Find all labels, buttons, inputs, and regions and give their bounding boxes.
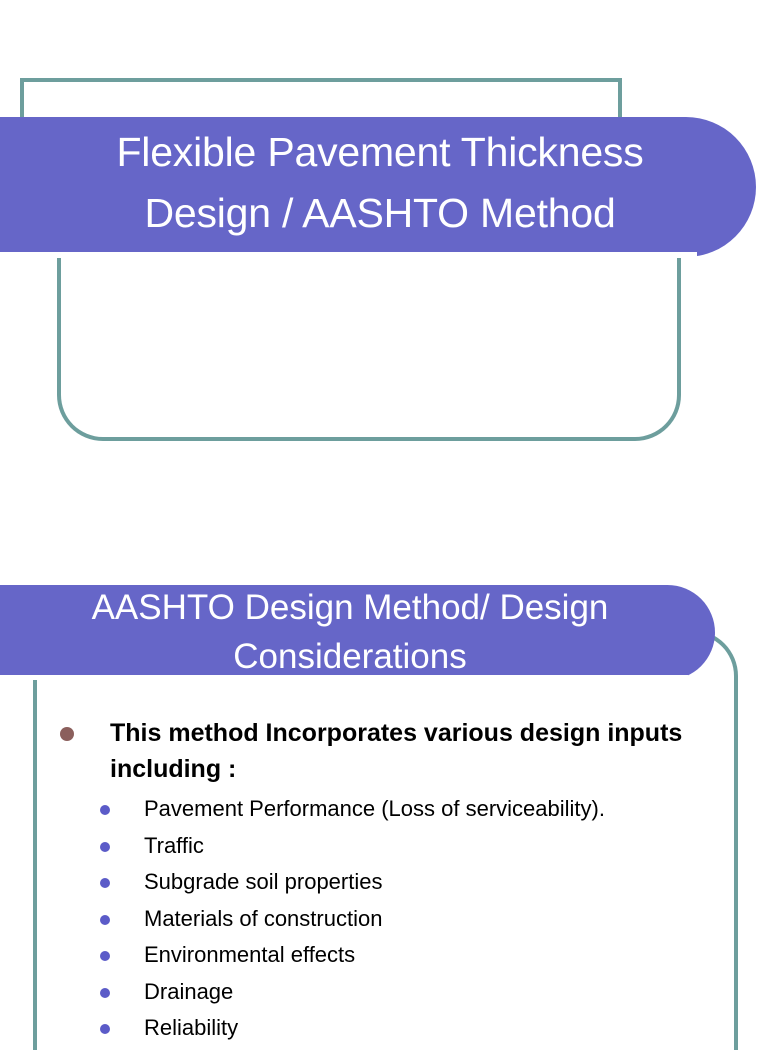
list-item: Subgrade soil properties <box>52 864 732 901</box>
bullet-dot-icon <box>100 988 110 998</box>
slide-title: Flexible Pavement Thickness Design / AAS… <box>0 0 768 560</box>
slide2-title-underline <box>0 675 688 680</box>
list-item-label: Environmental effects <box>144 942 355 967</box>
list-item: This method Incorporates various design … <box>52 715 732 787</box>
slide-deck: Flexible Pavement Thickness Design / AAS… <box>0 0 768 1024</box>
list-item: Drainage <box>52 974 732 1011</box>
slide2-bullet-list: This method Incorporates various design … <box>52 715 732 1047</box>
list-item-label: Pavement Performance (Loss of serviceabi… <box>144 796 605 821</box>
list-item: Traffic <box>52 828 732 865</box>
slide1-title-underline <box>0 252 697 258</box>
slide2-title-text: AASHTO Design Method/ Design Considerati… <box>30 586 670 678</box>
bullet-dot-icon <box>60 727 74 741</box>
slide-aashto-design-method: AASHTO Design Method/ Design Considerati… <box>0 560 768 1024</box>
list-item-label: Subgrade soil properties <box>144 869 382 894</box>
list-item: Environmental effects <box>52 937 732 974</box>
bullet-dot-icon <box>100 1024 110 1034</box>
bullet-dot-icon <box>100 915 110 925</box>
bullet-dot-icon <box>100 878 110 888</box>
list-item-label: Traffic <box>144 833 204 858</box>
bullet-dot-icon <box>100 951 110 961</box>
bullet-dot-icon <box>100 805 110 815</box>
bullet-dot-icon <box>100 842 110 852</box>
list-item-label: Reliability <box>144 1015 238 1040</box>
list-item: Reliability <box>52 1010 732 1047</box>
slide1-title-text: Flexible Pavement Thickness Design / AAS… <box>60 118 700 248</box>
list-item-label: This method Incorporates various design … <box>110 719 682 783</box>
slide1-frame-body <box>57 255 681 441</box>
list-item-label: Materials of construction <box>144 906 382 931</box>
list-item: Materials of construction <box>52 901 732 938</box>
list-item-label: Drainage <box>144 979 233 1004</box>
list-item: Pavement Performance (Loss of serviceabi… <box>52 791 732 828</box>
